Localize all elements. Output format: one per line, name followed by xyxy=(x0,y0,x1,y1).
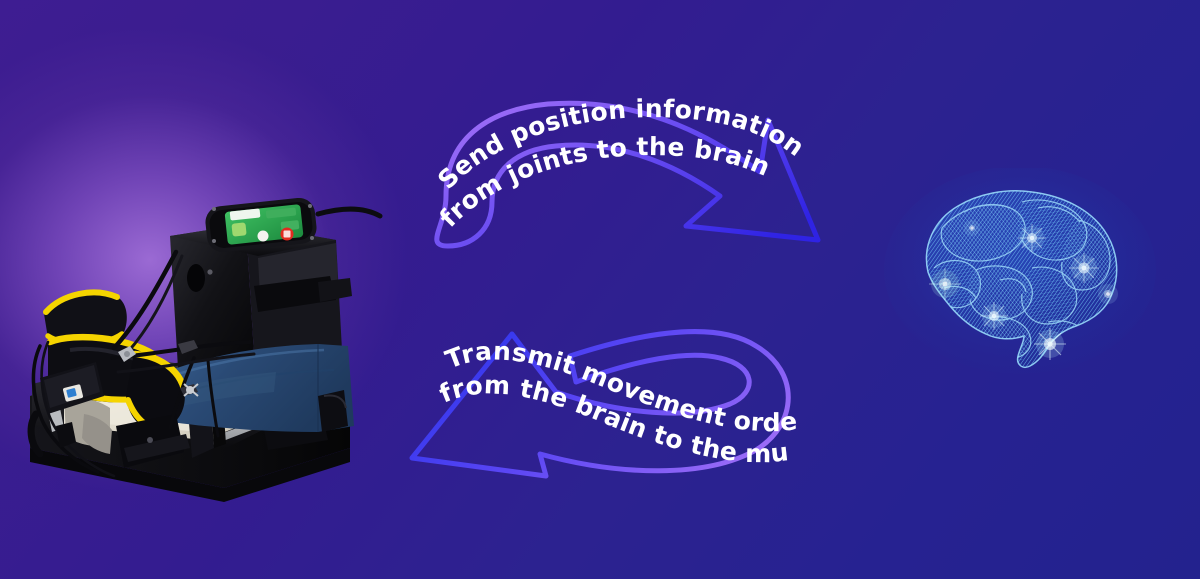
afferent-arrow-line1: Send position information xyxy=(432,94,810,195)
svg-text:from joints to the brain: from joints to the brain xyxy=(434,132,775,233)
infographic-canvas: Black motorized ankle mobilization rehab… xyxy=(0,0,1200,579)
rehabilitation-device-photo: Black motorized ankle mobilization rehab… xyxy=(18,96,390,516)
brain-illustration: Glowing blue wireframe illustration of a… xyxy=(872,168,1164,392)
afferent-arrow-line2: from joints to the brain xyxy=(434,132,775,233)
svg-text:Send position information: Send position information xyxy=(432,94,810,195)
